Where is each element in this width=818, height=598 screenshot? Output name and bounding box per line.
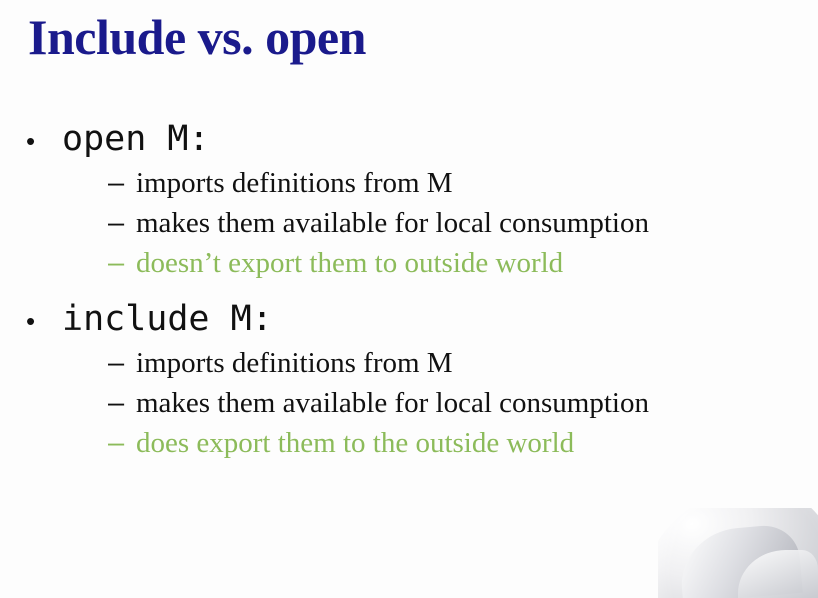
list-item: – doesn’t export them to outside world: [108, 244, 798, 283]
slide-body: • open M: – imports definitions from M –…: [26, 118, 798, 464]
photo-shape: [658, 508, 818, 598]
list-item: – makes them available for local consump…: [108, 384, 798, 423]
bullet-block: • open M: – imports definitions from M –…: [26, 118, 798, 283]
page-title: Include vs. open: [28, 8, 366, 66]
list-item: • include M:: [26, 298, 798, 342]
list-item: – makes them available for local consump…: [108, 204, 798, 243]
slide-canvas: Include vs. open • open M: – imports def…: [0, 0, 818, 598]
sub-item-label: makes them available for local consumpti…: [136, 384, 649, 423]
dash-glyph: –: [108, 384, 136, 423]
dash-glyph: –: [108, 164, 136, 203]
photo-fold-secondary: [738, 550, 818, 598]
dash-glyph: –: [108, 244, 136, 283]
list-item: – imports definitions from M: [108, 164, 798, 203]
bullet-glyph: •: [26, 308, 62, 334]
sub-item-label: imports definitions from M: [136, 344, 453, 383]
sub-item-label: makes them available for local consumpti…: [136, 204, 649, 243]
list-item: • open M:: [26, 118, 798, 162]
sub-item-label: imports definitions from M: [136, 164, 453, 203]
dash-glyph: –: [108, 424, 136, 463]
block-spacer: [26, 284, 798, 298]
list-item: – imports definitions from M: [108, 344, 798, 383]
dash-glyph: –: [108, 344, 136, 383]
list-item: – does export them to the outside world: [108, 424, 798, 463]
sub-item-label: doesn’t export them to outside world: [136, 244, 563, 283]
bullet-block: • include M: – imports definitions from …: [26, 298, 798, 463]
code-heading: include M:: [62, 298, 273, 342]
dash-glyph: –: [108, 204, 136, 243]
code-heading: open M:: [62, 118, 210, 162]
photo-corner-overlay: [658, 508, 818, 598]
sub-item-label: does export them to the outside world: [136, 424, 574, 463]
bullet-glyph: •: [26, 128, 62, 154]
photo-fold: [677, 523, 803, 598]
